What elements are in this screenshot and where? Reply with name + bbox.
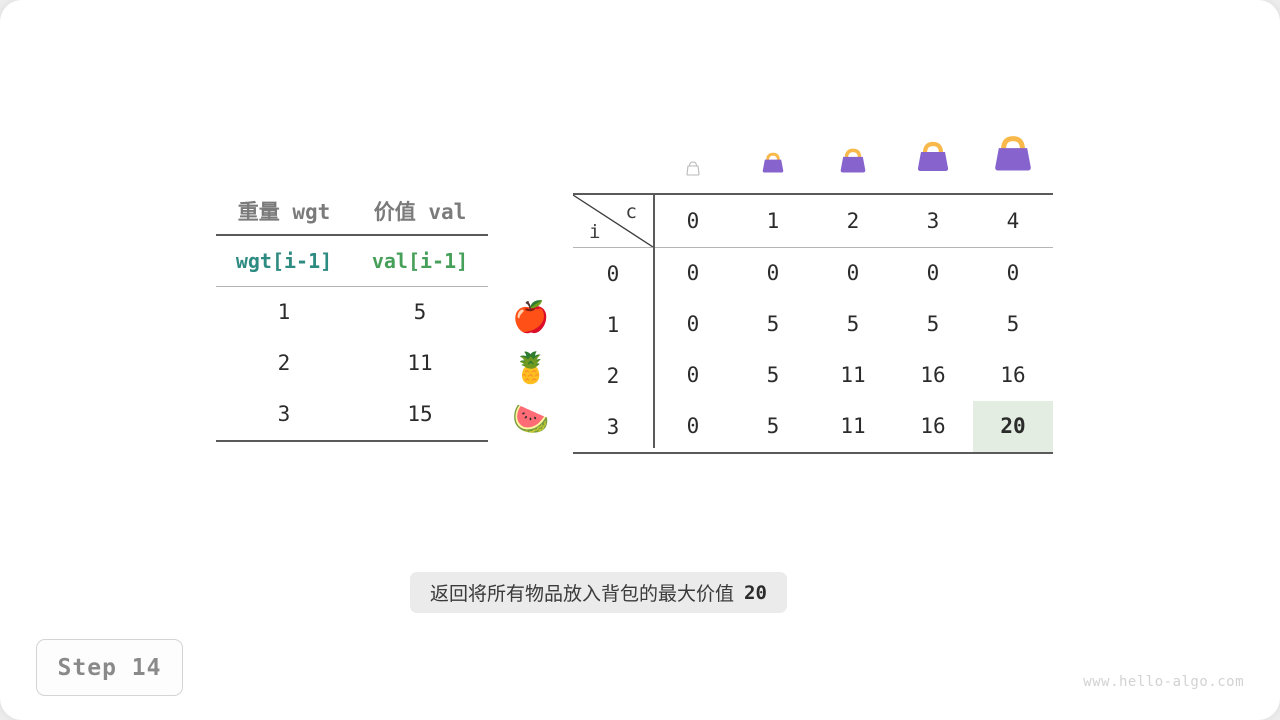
dp-corner-col-label: c (626, 201, 637, 223)
dp-col-header-3: 3 (893, 195, 973, 247)
result-caption: 返回将所有物品放入背包的最大价值 20 (410, 572, 787, 613)
dp-cell-2-1: 5 (733, 350, 813, 401)
dp-corner-row-label: i (589, 221, 600, 243)
bag-icon-capacity-1 (758, 148, 788, 178)
dp-col-header-0: 0 (653, 195, 733, 247)
bag-icon-capacity-2 (835, 143, 871, 179)
watermark: www.hello-algo.com (1083, 674, 1244, 690)
dp-col-header-4: 4 (973, 195, 1053, 247)
dp-cell-0-3: 0 (893, 248, 973, 299)
dp-cell-0-4: 0 (973, 248, 1053, 299)
items-header-value: 价值 val (352, 202, 488, 223)
dp-table-row: 1 0 5 5 5 5 (573, 299, 1053, 350)
dp-cell-2-0: 0 (653, 350, 733, 401)
dp-cell-3-4-highlighted: 20 (973, 401, 1053, 452)
dp-table-row: 3 0 5 11 16 20 (573, 401, 1053, 452)
pineapple-icon: 🍍 (508, 354, 554, 384)
items-table: 重量 wgt 价值 val wgt[i-1] val[i-1] 1 5 2 11… (216, 190, 488, 442)
dp-cell-3-3: 16 (893, 401, 973, 452)
step-badge: Step 14 (36, 639, 183, 696)
dp-cell-2-3: 16 (893, 350, 973, 401)
dp-cell-1-1: 5 (733, 299, 813, 350)
slide-canvas: 重量 wgt 价值 val wgt[i-1] val[i-1] 1 5 2 11… (0, 0, 1280, 720)
dp-col-header-1: 1 (733, 195, 813, 247)
dp-cell-0-1: 0 (733, 248, 813, 299)
dp-row-header-3: 3 (573, 401, 653, 452)
dp-table-row: 0 0 0 0 0 0 (573, 247, 1053, 299)
bag-icon-capacity-4 (987, 128, 1039, 180)
dp-cell-1-4: 5 (973, 299, 1053, 350)
dp-cell-1-3: 5 (893, 299, 973, 350)
item-value-1: 5 (352, 302, 488, 323)
dp-col-header-2: 2 (813, 195, 893, 247)
dp-cell-0-2: 0 (813, 248, 893, 299)
dp-row-header-1: 1 (573, 299, 653, 350)
dp-table: c i 0 1 2 3 4 0 0 0 0 0 0 1 0 5 5 5 5 2 (573, 193, 1053, 454)
dp-cell-2-4: 16 (973, 350, 1053, 401)
dp-cell-1-0: 0 (653, 299, 733, 350)
items-table-row: 3 15 (216, 389, 488, 440)
dp-corner-cell: c i (573, 195, 653, 247)
dp-row-header-0: 0 (573, 248, 653, 299)
item-weight-3: 3 (216, 404, 352, 425)
dp-index-column-divider (653, 193, 655, 448)
items-table-bottom-rule (216, 440, 488, 442)
apple-icon: 🍎 (508, 303, 554, 333)
items-subheader-wgt-expr: wgt[i-1] (216, 251, 352, 271)
dp-row-header-2: 2 (573, 350, 653, 401)
items-header-weight: 重量 wgt (216, 202, 352, 223)
dp-cell-3-0: 0 (653, 401, 733, 452)
items-subheader-val-expr: val[i-1] (352, 251, 488, 271)
dp-cell-2-2: 11 (813, 350, 893, 401)
caption-text: 返回将所有物品放入背包的最大价值 (430, 579, 734, 606)
item-weight-1: 1 (216, 302, 352, 323)
dp-cell-3-1: 5 (733, 401, 813, 452)
caption-value: 20 (744, 582, 767, 604)
bag-icon-capacity-0 (682, 158, 704, 180)
item-value-3: 15 (352, 404, 488, 425)
bag-icon-capacity-3 (911, 135, 955, 179)
item-weight-2: 2 (216, 353, 352, 374)
dp-table-bottom-rule (573, 452, 1053, 454)
watermelon-icon: 🍉 (508, 405, 554, 435)
dp-cell-0-0: 0 (653, 248, 733, 299)
items-table-subheader-row: wgt[i-1] val[i-1] (216, 234, 488, 286)
items-table-row: 1 5 (216, 286, 488, 338)
items-table-row: 2 11 (216, 338, 488, 389)
dp-cell-1-2: 5 (813, 299, 893, 350)
item-value-2: 11 (352, 353, 488, 374)
items-table-header-row: 重量 wgt 价值 val (216, 190, 488, 234)
dp-table-header-row: c i 0 1 2 3 4 (573, 193, 1053, 247)
dp-cell-3-2: 11 (813, 401, 893, 452)
dp-table-row: 2 0 5 11 16 16 (573, 350, 1053, 401)
